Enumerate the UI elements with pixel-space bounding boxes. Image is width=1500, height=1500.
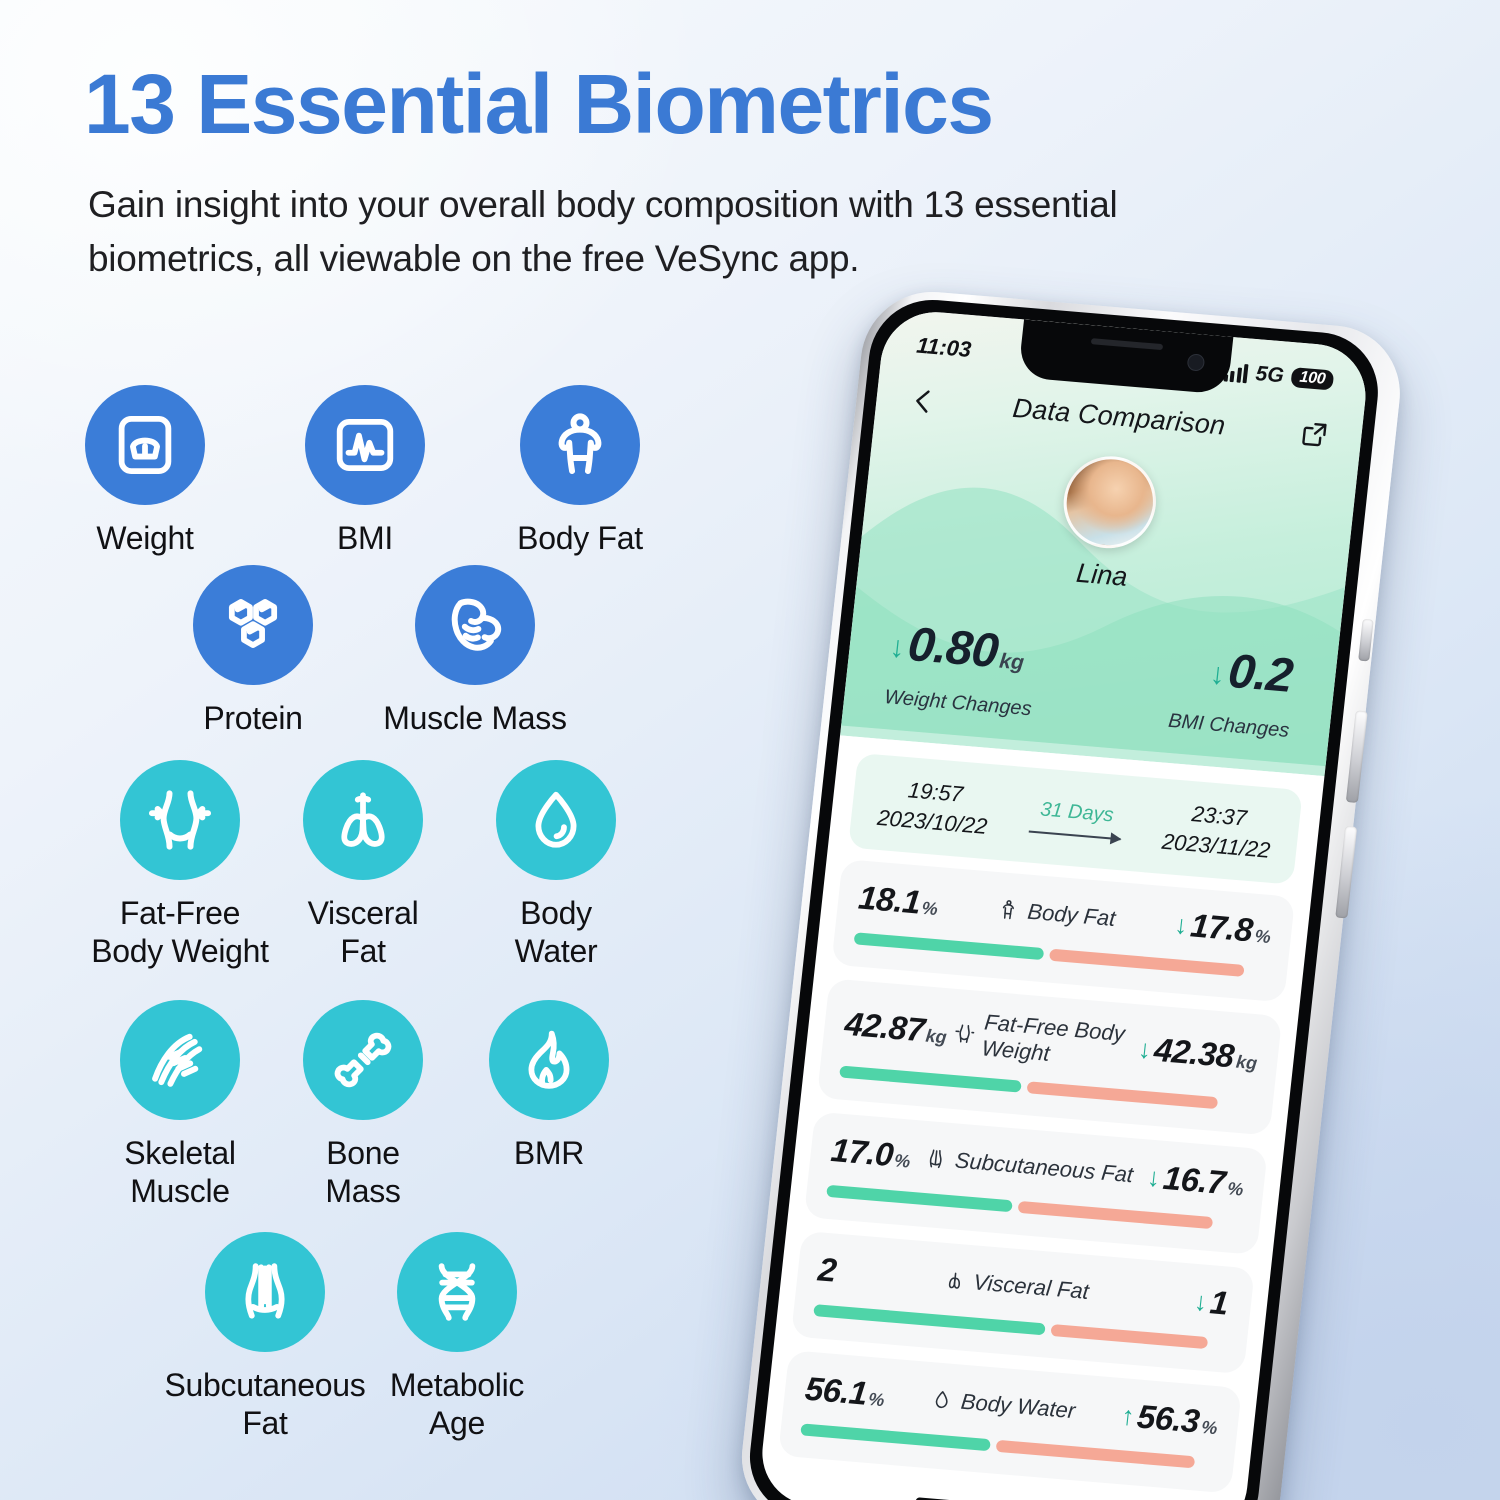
row-end-value: 42.38: [1152, 1031, 1235, 1075]
row-start-value: 2: [816, 1251, 838, 1290]
metric-tile-waist: Fat-Free Body Weight: [75, 760, 285, 971]
row-end-unit: %: [1226, 1179, 1244, 1201]
lungs-icon: [303, 760, 423, 880]
row-trend-arrow-icon: ↓: [1173, 911, 1189, 938]
metric-tile-label: Bone Mass: [325, 1134, 400, 1211]
row-start-unit: kg: [925, 1026, 948, 1049]
row-bar-start: [839, 1066, 1022, 1093]
row-label: Body Water: [960, 1389, 1077, 1424]
row-end-value: 56.3: [1135, 1398, 1201, 1441]
row-start-value: 17.0: [829, 1131, 895, 1174]
chevron-left-icon[interactable]: [907, 385, 940, 417]
share-icon[interactable]: [1298, 417, 1331, 449]
metric-row[interactable]: 42.87kgFat-Free Body Weight↓42.38kg: [817, 979, 1283, 1136]
metric-tile-molecule: Protein: [148, 565, 358, 737]
arrow-right-icon: [1028, 831, 1120, 841]
row-end-value: 17.8: [1189, 907, 1255, 950]
metric-row[interactable]: 18.1%Body Fat↓17.8%: [831, 859, 1295, 1002]
metric-tile-lungs: Visceral Fat: [258, 760, 468, 971]
metric-tile-bmi-chart: BMI: [260, 385, 470, 557]
row-trend-arrow-icon: ↓: [1193, 1288, 1209, 1315]
row-bar-start: [826, 1185, 1013, 1213]
battery-badge: 100: [1290, 367, 1334, 391]
row-bar-end: [996, 1440, 1195, 1469]
row-trend-arrow-icon: ↑: [1120, 1403, 1136, 1430]
metric-tile-muscle-fiber: Skeletal Muscle: [75, 1000, 285, 1211]
phone-mockup: 11:03 5G 100 Data Comparison: [504, 257, 1457, 1500]
row-end-unit: %: [1254, 926, 1272, 948]
row-bar-start: [813, 1304, 1045, 1335]
scale-icon: [85, 385, 205, 505]
range-duration: 31 Days: [1028, 798, 1123, 840]
avatar[interactable]: [1059, 453, 1161, 552]
weight-change-unit: kg: [998, 650, 1025, 676]
metric-tile-label: Fat-Free Body Weight: [91, 894, 269, 971]
metric-tile-label: Skeletal Muscle: [124, 1134, 235, 1211]
app-header: 11:03 5G 100 Data Comparison: [841, 308, 1371, 766]
row-start-unit: %: [867, 1389, 885, 1411]
row-start-value: 42.87: [843, 1005, 926, 1049]
row-bar-end: [1027, 1082, 1218, 1110]
row-bar-end: [1049, 949, 1244, 977]
bone-joint-icon: [303, 1000, 423, 1120]
range-end: 23:37 2023/11/22: [1160, 797, 1275, 865]
body-fat-icon: [996, 899, 1020, 923]
metric-tile-scale: Weight: [40, 385, 250, 557]
promo-page: 13 Essential Biometrics Gain insight int…: [0, 0, 1500, 1500]
row-start-value: 56.1: [803, 1370, 869, 1413]
waist-icon: [120, 760, 240, 880]
subcutaneous-fat-icon: [924, 1147, 948, 1171]
weight-change-value: 0.80: [905, 617, 1000, 679]
molecule-icon: [193, 565, 313, 685]
metric-tile-label: Subcutaneous Fat: [164, 1366, 365, 1443]
dna-icon: [397, 1232, 517, 1352]
metric-tile-label: Muscle Mass: [383, 699, 566, 737]
row-bar-end: [1050, 1324, 1208, 1349]
row-trend-arrow-icon: ↓: [1137, 1036, 1153, 1063]
earpiece-speaker: [1091, 338, 1163, 350]
body-water-icon: [930, 1389, 954, 1413]
bmi-chart-icon: [305, 385, 425, 505]
bmi-change-block: ↓ 0.2 BMI Changes: [1167, 639, 1298, 743]
metric-tile-flexed-bicep: Muscle Mass: [370, 565, 580, 737]
row-end-unit: kg: [1235, 1052, 1258, 1075]
range-start: 19:57 2023/10/22: [876, 773, 992, 841]
fat-free-weight-icon: [952, 1022, 976, 1046]
metric-tile-label: Metabolic Age: [390, 1366, 524, 1443]
network-type-label: 5G: [1254, 362, 1285, 388]
metric-row[interactable]: 17.0%Subcutaneous Fat↓16.7%: [804, 1112, 1268, 1255]
front-camera: [1187, 353, 1206, 371]
row-label: Body Fat: [1026, 899, 1117, 932]
metric-row[interactable]: 2Visceral Fat↓1: [791, 1231, 1255, 1374]
metric-row[interactable]: 56.1%Body Water↑56.3%: [778, 1350, 1242, 1493]
row-trend-arrow-icon: ↓: [1146, 1164, 1162, 1191]
screen-title: Data Comparison: [1011, 393, 1227, 442]
row-end-unit: %: [1200, 1417, 1218, 1439]
torso-icon: [205, 1232, 325, 1352]
range-duration-label: 31 Days: [1030, 798, 1124, 829]
metric-tile-label: Visceral Fat: [308, 894, 419, 971]
row-start-unit: %: [921, 898, 939, 920]
metric-tile-label: BMI: [337, 519, 393, 557]
metric-tile-torso: Subcutaneous Fat: [160, 1232, 370, 1443]
row-bar-end: [1018, 1201, 1213, 1229]
bmi-change-value: 0.2: [1226, 644, 1295, 704]
muscle-fiber-icon: [120, 1000, 240, 1120]
row-end-value: 1: [1208, 1284, 1230, 1323]
metric-row-list: 18.1%Body Fat↓17.8%42.87kgFat-Free Body …: [762, 846, 1313, 1495]
visceral-fat-icon: [942, 1269, 966, 1293]
row-label: Fat-Free Body Weight: [980, 1010, 1135, 1074]
flexed-bicep-icon: [415, 565, 535, 685]
trend-arrow-icon: ↓: [1208, 659, 1226, 690]
row-label: Visceral Fat: [972, 1270, 1090, 1306]
row-end-value: 16.7: [1161, 1159, 1227, 1202]
metric-tile-bone-joint: Bone Mass: [258, 1000, 468, 1211]
row-start-unit: %: [893, 1151, 911, 1173]
metric-tile-label: Weight: [96, 519, 193, 557]
row-label: Subcutaneous Fat: [954, 1148, 1135, 1189]
metric-tile-label: Protein: [203, 699, 302, 737]
row-start-value: 18.1: [857, 879, 923, 922]
row-bar-start: [854, 933, 1045, 961]
weight-change-block: ↓ 0.80 kg Weight Changes: [883, 615, 1040, 721]
row-bar-start: [800, 1424, 991, 1452]
trend-arrow-icon: ↓: [888, 632, 906, 663]
